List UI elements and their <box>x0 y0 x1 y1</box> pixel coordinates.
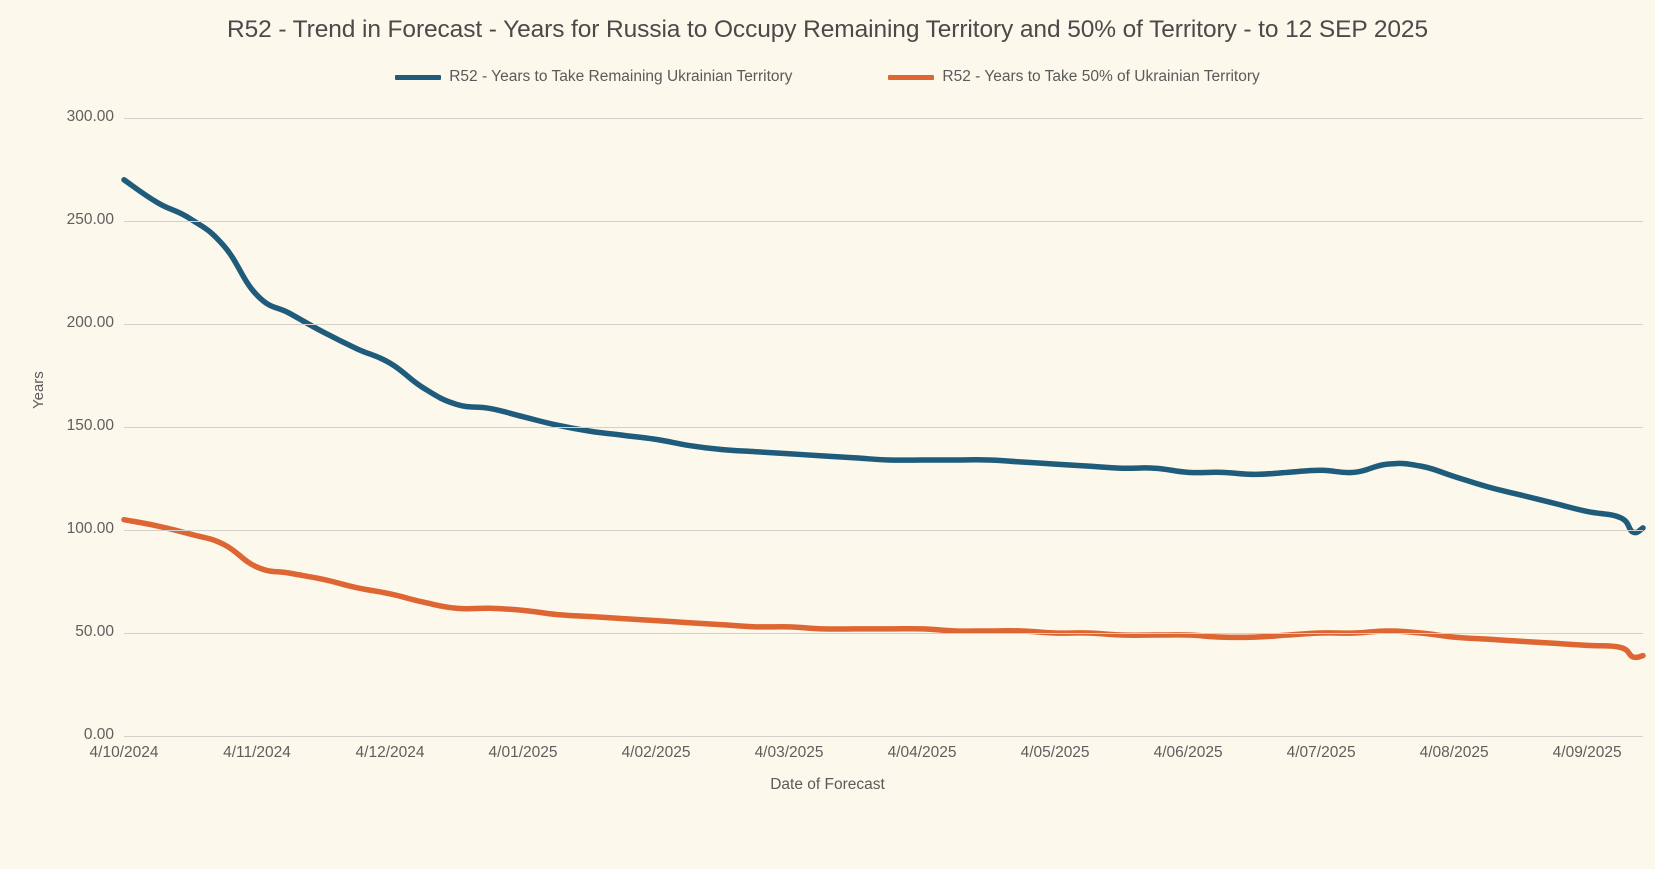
x-axis-tick-label: 4/02/2025 <box>622 744 691 762</box>
y-axis-tick-label: 0.00 <box>38 726 114 744</box>
gridline <box>124 427 1643 428</box>
gridline <box>124 118 1643 119</box>
legend-label-remaining-territory: R52 - Years to Take Remaining Ukrainian … <box>449 68 792 86</box>
gridline <box>124 530 1643 531</box>
chart-legend: R52 - Years to Take Remaining Ukrainian … <box>0 68 1655 86</box>
y-axis-tick-label: 300.00 <box>38 108 114 126</box>
legend-label-half-territory: R52 - Years to Take 50% of Ukrainian Ter… <box>942 68 1259 86</box>
y-axis-tick-label: 200.00 <box>38 314 114 332</box>
gridline <box>124 324 1643 325</box>
x-axis-tick-label: 4/05/2025 <box>1021 744 1090 762</box>
legend-swatch-orange <box>888 75 934 80</box>
x-axis-tick-label: 4/08/2025 <box>1420 744 1489 762</box>
legend-item-remaining-territory[interactable]: R52 - Years to Take Remaining Ukrainian … <box>395 68 792 86</box>
line-series-half-territory <box>124 520 1643 658</box>
x-axis-tick-label: 4/11/2024 <box>223 744 291 762</box>
x-axis-tick-label: 4/12/2024 <box>356 744 425 762</box>
plot-area <box>124 118 1643 736</box>
x-axis-tick-labels: 4/10/20244/11/20244/12/20244/01/20254/02… <box>124 744 1643 774</box>
gridline <box>124 736 1643 737</box>
x-axis-tick-label: 4/10/2024 <box>90 744 159 762</box>
legend-item-half-territory[interactable]: R52 - Years to Take 50% of Ukrainian Ter… <box>888 68 1259 86</box>
line-series-remaining-territory <box>124 180 1643 533</box>
x-axis-title: Date of Forecast <box>0 776 1655 794</box>
legend-swatch-blue <box>395 75 441 80</box>
y-axis-tick-label: 250.00 <box>38 211 114 229</box>
y-axis-tick-label: 50.00 <box>38 623 114 641</box>
x-axis-tick-label: 4/01/2025 <box>489 744 558 762</box>
x-axis-tick-label: 4/03/2025 <box>755 744 824 762</box>
x-axis-tick-label: 4/04/2025 <box>888 744 957 762</box>
y-axis-tick-label: 100.00 <box>38 520 114 538</box>
gridline <box>124 633 1643 634</box>
y-axis-tick-label: 150.00 <box>38 417 114 435</box>
x-axis-tick-label: 4/06/2025 <box>1154 744 1223 762</box>
chart-container: R52 - Trend in Forecast - Years for Russ… <box>0 0 1655 869</box>
gridline <box>124 221 1643 222</box>
x-axis-tick-label: 4/07/2025 <box>1287 744 1356 762</box>
y-axis-tick-labels: 300.00250.00200.00150.00100.0050.000.00 <box>32 118 114 736</box>
x-axis-tick-label: 4/09/2025 <box>1553 744 1622 762</box>
chart-title: R52 - Trend in Forecast - Years for Russ… <box>0 16 1655 44</box>
